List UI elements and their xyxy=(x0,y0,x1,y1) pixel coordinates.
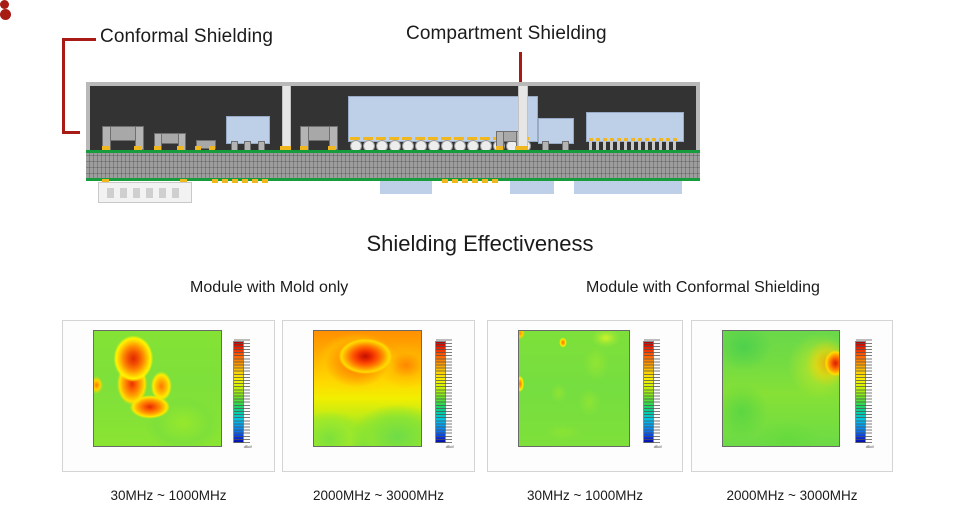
colorbar-unit-label: dBuV xyxy=(866,445,874,449)
colorbar-ticks xyxy=(436,339,452,443)
leader-line-conformal-top xyxy=(62,38,96,41)
bottom-pad-group-1 xyxy=(212,179,272,183)
heatmap-field xyxy=(94,331,221,446)
heatmap-panel-mold-low-band[interactable]: 139 138 137 136 135 134 133 132 131 130 … xyxy=(62,320,275,472)
bottom-side-package-3 xyxy=(574,181,682,194)
pcb-layer-lines xyxy=(86,153,700,179)
heatmap-panel-mold-high-band[interactable]: 139 138 137 136 135 134 133 132 131 130 … xyxy=(282,320,475,472)
colorbar-ticks xyxy=(856,339,872,443)
bottom-pad-group-2 xyxy=(442,179,498,183)
heatmap-plot-area: 139 138 137 136 135 134 133 132 131 130 … xyxy=(722,330,840,447)
heatmap-caption-mold-high-band: 2000MHz ~ 3000MHz xyxy=(282,488,475,503)
heatmap-field xyxy=(519,331,629,446)
heatmap-plot-area: 139 138 137 136 135 134 133 132 131 130 … xyxy=(313,330,422,447)
callout-label-conformal-shielding: Conformal Shielding xyxy=(100,26,273,48)
heatmap-caption-conformal-low-band: 30MHz ~ 1000MHz xyxy=(487,488,683,503)
heatmap-plot-area: 139 138 137 136 135 134 133 132 131 130 … xyxy=(93,330,222,447)
module-cross-section-diagram xyxy=(86,82,700,186)
colorbar-ticks xyxy=(644,339,660,443)
leader-dot-conformal xyxy=(0,0,9,9)
bottom-side-package-1 xyxy=(380,181,432,194)
subhead-module-with-mold-only: Module with Mold only xyxy=(190,279,348,297)
heatmap-panel-conformal-high-band[interactable]: 139 138 137 136 135 134 133 132 131 130 … xyxy=(691,320,893,472)
colorbar-unit-label: dBuV xyxy=(654,445,662,449)
colorbar-unit-label: dBuV xyxy=(446,445,454,449)
section-title: Shielding Effectiveness xyxy=(0,231,960,257)
colorbar-ticks xyxy=(234,339,250,443)
pad-row-right-die xyxy=(586,138,682,141)
compartment-shield-wall-annotated xyxy=(518,86,528,149)
leader-line-conformal-bottom xyxy=(62,131,80,134)
leader-dot-compartment xyxy=(0,9,11,20)
bottom-side-package-2 xyxy=(510,181,554,194)
board-to-board-connector xyxy=(98,182,192,203)
heatmap-caption-conformal-high-band: 2000MHz ~ 3000MHz xyxy=(691,488,893,503)
conformal-shield-right-wall xyxy=(696,82,700,154)
leader-line-conformal-vertical xyxy=(62,38,65,134)
heatmap-field xyxy=(314,331,421,446)
heatmap-caption-mold-low-band: 30MHz ~ 1000MHz xyxy=(62,488,275,503)
component-die-small-left xyxy=(226,116,270,144)
heatmap-panel-conformal-low-band[interactable]: 139 138 137 136 135 134 133 132 131 130 … xyxy=(487,320,683,472)
heatmap-field xyxy=(723,331,839,446)
heatmap-plot-area: 139 138 137 136 135 134 133 132 131 130 … xyxy=(518,330,630,447)
slide-canvas: Conformal Shielding Compartment Shieldin… xyxy=(0,0,960,524)
compartment-shield-wall-left xyxy=(282,86,291,149)
callout-label-compartment-shielding: Compartment Shielding xyxy=(406,23,607,45)
subhead-module-with-conformal-shielding: Module with Conformal Shielding xyxy=(586,279,820,297)
colorbar-unit-label: dBuV xyxy=(244,445,252,449)
